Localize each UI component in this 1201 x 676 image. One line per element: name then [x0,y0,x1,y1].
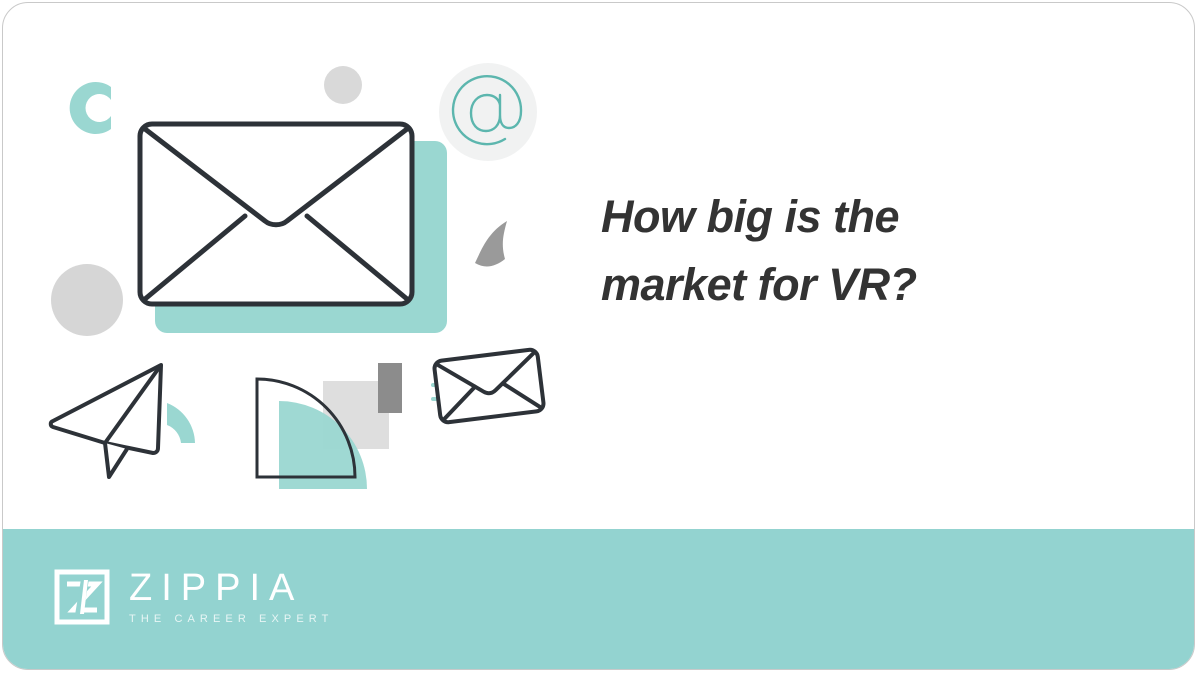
envelope-large-icon [137,121,447,333]
teal-crescent-icon [67,78,127,138]
paper-plane-icon [45,355,215,489]
at-sign-icon [437,61,541,165]
decor-circle-large-icon [51,264,123,336]
decor-circle-small-icon [324,66,362,104]
envelope-small-icon [423,345,555,427]
brand-logo[interactable]: ZIPPIA THE CAREER EXPERT [54,569,333,625]
quarter-circle-icon [249,351,421,493]
zippia-logo-icon [54,569,110,625]
brand-name: ZIPPIA [129,569,333,607]
page-title: How big is the market for VR? [601,183,1101,320]
gray-wedge-icon [471,219,527,281]
brand-tagline: THE CAREER EXPERT [129,614,333,625]
envelope-large-outline [137,121,415,307]
footer-bar: ZIPPIA THE CAREER EXPERT [3,529,1194,669]
quarter-circle-group [249,351,421,493]
brand-text-block: ZIPPIA THE CAREER EXPERT [129,569,333,625]
info-card: How big is the market for VR? ZIPPIA THE… [2,2,1195,670]
